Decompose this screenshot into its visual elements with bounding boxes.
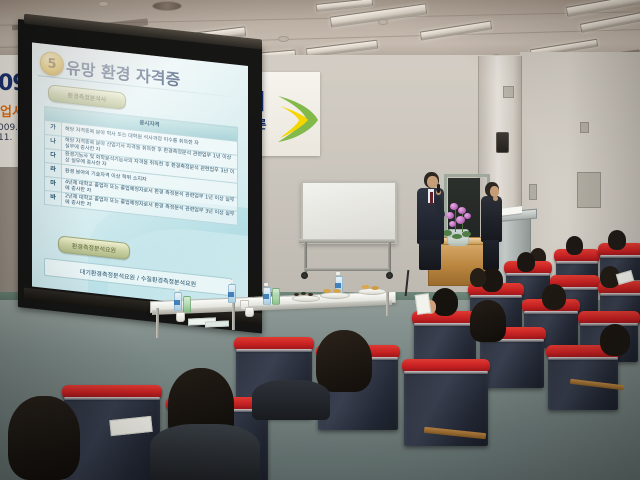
snack-plate: [292, 295, 320, 302]
snack: [371, 286, 379, 290]
orchid-flower: [450, 203, 458, 210]
seat-trim: [236, 349, 312, 352]
seat-trim: [600, 255, 640, 258]
snack: [323, 289, 331, 293]
wall-fixture: [580, 122, 589, 133]
audience-head: [316, 330, 372, 392]
whiteboard-caster: [386, 272, 393, 279]
snack-plate: [320, 292, 350, 299]
seat-trim: [506, 273, 550, 276]
snack: [294, 293, 299, 296]
audience-head: [517, 252, 535, 272]
snack: [361, 285, 370, 289]
seat-trim: [64, 397, 160, 400]
audience-head: [608, 230, 626, 250]
banner-logo-icon: [276, 92, 320, 144]
audience-head: [542, 284, 566, 310]
seat-trim: [556, 261, 598, 264]
wall-speaker: [496, 132, 509, 153]
snack: [301, 292, 306, 295]
beverage-bottle: [183, 296, 191, 313]
whiteboard-tray: [299, 239, 395, 243]
bottle-label: [174, 300, 180, 305]
wall-panel: [577, 172, 601, 208]
table-leg: [156, 308, 159, 338]
microphone: [437, 184, 440, 193]
bottle-cap: [229, 280, 233, 283]
orchid-flower: [449, 221, 456, 227]
paper-sheet: [205, 320, 229, 327]
wall-fixture: [529, 184, 537, 200]
bottle-label: [263, 294, 269, 299]
seat-trim: [600, 293, 640, 296]
smoke-detector: [378, 19, 388, 25]
table-leg: [232, 302, 235, 330]
projection-screen: 5 유망 환경 자격증 환경측정분석사 응시자격 가 해당 자격종목 분야 학사…: [18, 19, 262, 334]
whiteboard-crossbar: [305, 268, 389, 271]
speaker-legs: [419, 240, 441, 270]
slide-number-badge: 5: [40, 50, 64, 77]
audience-head: [600, 324, 630, 356]
whiteboard-caster: [301, 272, 308, 279]
bottle-label: [228, 292, 234, 297]
auditorium-photo: 09 업시 009. 11. 수회 전략토론 환경정책과 5 유망 환경 자격증…: [0, 0, 640, 480]
smoke-detector: [98, 1, 109, 7]
presentation-slide: 5 유망 환경 자격증 환경측정분석사 응시자격 가 해당 자격종목 분야 학사…: [32, 43, 248, 310]
audience-handout: [415, 293, 432, 315]
wall-fixture: [503, 86, 514, 98]
audience-head: [470, 300, 506, 342]
seat-trim: [414, 323, 476, 326]
slide-table: 응시자격 가 해당 자격종목 분야 학사 또는 대학원 석사과정 이수를 취득한…: [44, 106, 238, 226]
beverage-bottle: [272, 288, 280, 305]
ceiling-vent: [152, 1, 182, 11]
audience-head: [470, 268, 486, 287]
bottle-cap: [336, 272, 340, 275]
seat: [480, 334, 544, 388]
slide-button-top: 환경측정분석사: [48, 84, 126, 109]
snack: [333, 289, 341, 293]
table-row-key: 바: [45, 190, 62, 206]
podium-person-legs: [483, 240, 499, 270]
seat-back: [480, 334, 544, 388]
audience-shoulders: [150, 424, 260, 480]
whiteboard: [301, 181, 397, 244]
paper-cup: [245, 307, 254, 317]
bottle-label: [335, 283, 341, 288]
bottle-cap: [264, 283, 268, 286]
snack: [308, 293, 313, 296]
audience-head: [432, 288, 458, 316]
seat-trim: [404, 371, 488, 374]
audience-shoulders: [252, 380, 330, 420]
audience-head: [8, 396, 80, 480]
podium-person-hand: [493, 196, 498, 201]
paper-cup: [176, 312, 185, 322]
podium-person-body: [481, 196, 502, 242]
bottle-cap: [175, 288, 179, 291]
orchid-flower: [446, 212, 454, 219]
table-leg: [386, 292, 389, 316]
greenery: [443, 230, 452, 236]
seat-trim: [524, 311, 578, 314]
speaker-tie: [430, 192, 433, 204]
orchid-flower: [464, 213, 471, 219]
audience-head: [566, 236, 583, 255]
seat-trim: [548, 357, 618, 360]
greenery: [452, 234, 462, 239]
greenery: [462, 231, 471, 237]
seat-trim: [470, 295, 522, 298]
smoke-detector: [278, 36, 289, 42]
